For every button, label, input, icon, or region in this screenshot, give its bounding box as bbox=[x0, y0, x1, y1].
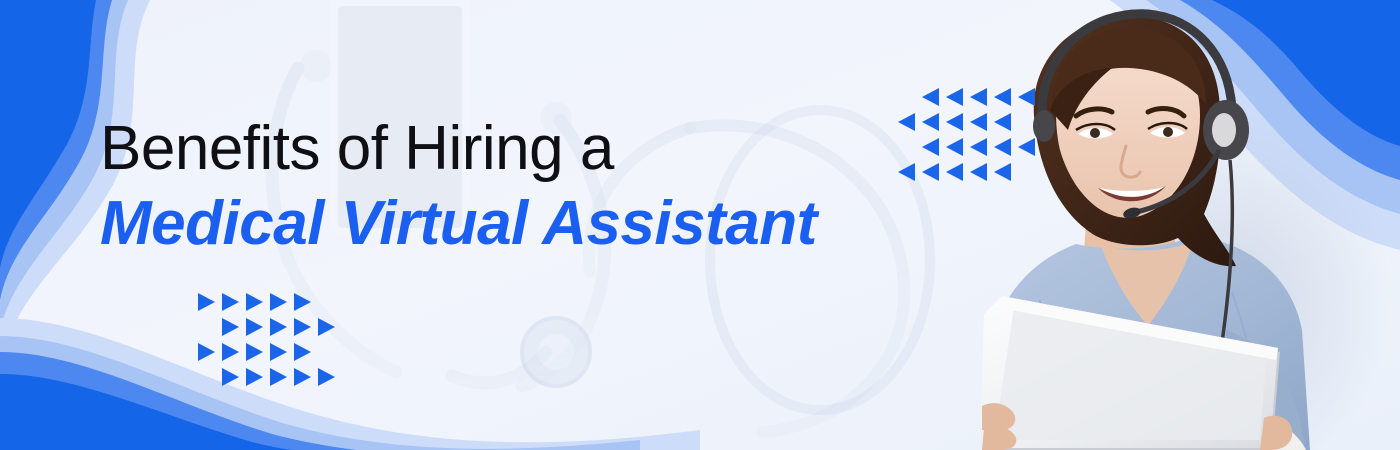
triangle-right-icon bbox=[246, 343, 263, 361]
triangle-right-icon bbox=[222, 343, 239, 361]
triangle-row bbox=[198, 368, 342, 393]
triangle-left-icon bbox=[898, 113, 915, 131]
triangle-left-icon bbox=[994, 88, 1011, 106]
triangle-left-icon bbox=[970, 113, 987, 131]
triangle-right-icon bbox=[222, 368, 239, 386]
triangle-left-icon bbox=[970, 88, 987, 106]
triangle-right-icon bbox=[294, 368, 311, 386]
triangle-row bbox=[898, 138, 1042, 163]
triangle-right-icon bbox=[222, 293, 239, 311]
triangle-right-icon bbox=[318, 318, 335, 336]
triangle-spacer bbox=[898, 138, 922, 139]
triangle-left-icon bbox=[994, 163, 1011, 181]
triangle-pattern-top-right bbox=[898, 88, 1042, 188]
triangle-right-icon bbox=[270, 318, 287, 336]
triangle-spacer bbox=[898, 88, 922, 89]
triangle-row bbox=[898, 113, 1042, 138]
triangle-right-icon bbox=[198, 343, 215, 361]
triangle-right-icon bbox=[246, 293, 263, 311]
triangle-left-icon bbox=[1018, 88, 1035, 106]
triangle-right-icon bbox=[294, 293, 311, 311]
triangle-left-icon bbox=[922, 88, 939, 106]
triangle-row bbox=[898, 163, 1042, 188]
headline-line-2: Medical Virtual Assistant bbox=[100, 186, 817, 262]
triangle-right-icon bbox=[222, 318, 239, 336]
triangle-right-icon bbox=[198, 293, 215, 311]
triangle-left-icon bbox=[922, 113, 939, 131]
triangle-right-icon bbox=[294, 343, 311, 361]
triangle-row bbox=[198, 293, 342, 318]
headline-line-1: Benefits of Hiring a bbox=[100, 112, 817, 186]
triangle-left-icon bbox=[922, 138, 939, 156]
triangle-left-icon bbox=[946, 138, 963, 156]
triangle-right-icon bbox=[246, 368, 263, 386]
triangle-spacer bbox=[198, 318, 222, 319]
triangle-right-icon bbox=[246, 318, 263, 336]
hero-banner: Benefits of Hiring a Medical Virtual Ass… bbox=[0, 0, 1400, 450]
triangle-left-icon bbox=[994, 138, 1011, 156]
triangle-left-icon bbox=[898, 163, 915, 181]
triangle-row bbox=[198, 343, 342, 368]
triangle-row bbox=[898, 88, 1042, 113]
triangle-left-icon bbox=[922, 163, 939, 181]
triangle-right-icon bbox=[294, 318, 311, 336]
triangle-left-icon bbox=[946, 88, 963, 106]
triangle-right-icon bbox=[318, 368, 335, 386]
triangle-left-icon bbox=[946, 113, 963, 131]
triangle-right-icon bbox=[270, 293, 287, 311]
assistant-photo bbox=[980, 0, 1400, 450]
triangle-left-icon bbox=[970, 163, 987, 181]
triangle-spacer bbox=[198, 368, 222, 369]
headline-block: Benefits of Hiring a Medical Virtual Ass… bbox=[100, 112, 817, 262]
triangle-row bbox=[198, 318, 342, 343]
triangle-right-icon bbox=[270, 343, 287, 361]
triangle-right-icon bbox=[270, 368, 287, 386]
triangle-left-icon bbox=[994, 113, 1011, 131]
triangle-left-icon bbox=[946, 163, 963, 181]
triangle-pattern-bottom-left bbox=[198, 293, 342, 393]
triangle-left-icon bbox=[1018, 138, 1035, 156]
triangle-left-icon bbox=[970, 138, 987, 156]
